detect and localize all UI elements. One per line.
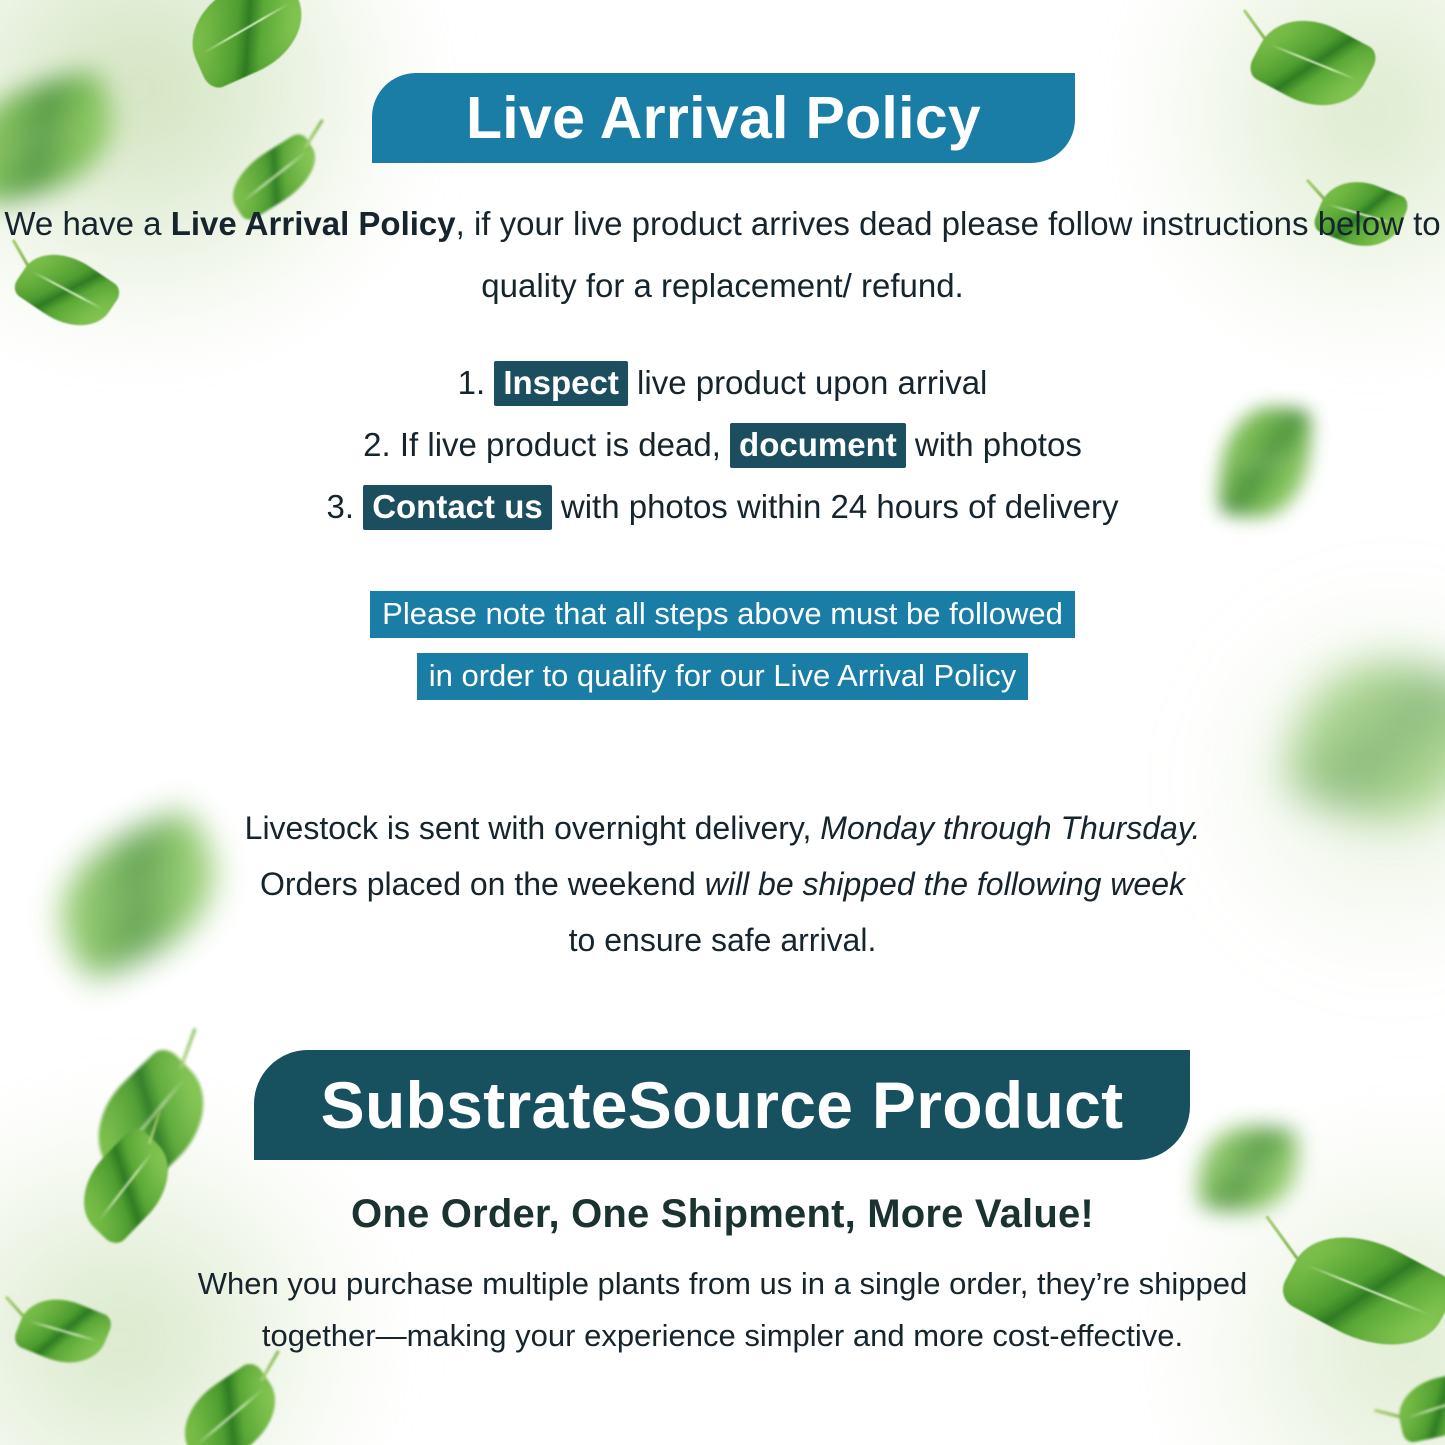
policy-step-1-number: 1. [458,364,486,401]
policy-step-1: 1. Inspect live product upon arrival [0,352,1445,414]
policy-step-1-after: live product upon arrival [628,364,988,401]
policy-step-3: 3. Contact us with photos within 24 hour… [0,476,1445,538]
policy-note-line-1: Please note that all steps above must be… [370,591,1075,638]
shipping-line-2-italic: will be shipped the following week [705,866,1185,902]
policy-step-3-highlight: Contact us [363,485,552,530]
shipping-line-3: to ensure safe arrival. [0,912,1445,968]
live-arrival-policy-banner: Live Arrival Policy [372,73,1075,163]
product-subheading: One Order, One Shipment, More Value! [0,1192,1445,1237]
policy-step-2-before: If live product is dead, [391,426,730,463]
policy-step-1-highlight: Inspect [494,361,628,406]
policy-step-2-number: 2. [363,426,391,463]
shipping-line-1: Livestock is sent with overnight deliver… [0,800,1445,856]
product-value-line-1: When you purchase multiple plants from u… [0,1258,1445,1310]
policy-step-3-before [354,488,363,525]
shipping-schedule-paragraph: Livestock is sent with overnight deliver… [0,800,1445,968]
policy-step-2-highlight: document [730,423,906,468]
policy-steps-list: 1. Inspect live product upon arrival 2. … [0,352,1445,538]
policy-step-3-number: 3. [326,488,354,525]
policy-note-block: Please note that all steps above must be… [0,583,1445,707]
policy-intro-bold-phrase: Live Arrival Policy [171,205,456,242]
substratesource-product-banner: SubstrateSource Product [254,1050,1190,1160]
shipping-line-2: Orders placed on the weekend will be shi… [0,856,1445,912]
policy-intro-lead: We have a [4,205,170,242]
policy-note-row-1: Please note that all steps above must be… [0,583,1445,645]
product-value-line-2: together—making your experience simpler … [0,1310,1445,1362]
shipping-line-1-italic: Monday through Thursday. [820,810,1200,846]
policy-note-line-2: in order to qualify for our Live Arrival… [417,653,1029,700]
shipping-line-2-plain: Orders placed on the weekend [260,866,705,902]
product-value-paragraph: When you purchase multiple plants from u… [0,1258,1445,1362]
policy-step-2-after: with photos [906,426,1082,463]
live-arrival-policy-infographic: Live Arrival Policy We have a Live Arriv… [0,0,1445,1445]
policy-note-row-2: in order to qualify for our Live Arrival… [0,645,1445,707]
policy-intro-paragraph: We have a Live Arrival Policy, if your l… [0,193,1445,317]
content-column: Live Arrival Policy We have a Live Arriv… [0,0,1445,1445]
policy-step-3-after: with photos within 24 hours of delivery [552,488,1119,525]
live-arrival-policy-banner-title: Live Arrival Policy [466,84,981,152]
policy-step-2: 2. If live product is dead, document wit… [0,414,1445,476]
shipping-line-1-plain: Livestock is sent with overnight deliver… [245,810,821,846]
substratesource-product-banner-title: SubstrateSource Product [321,1067,1124,1143]
policy-intro-rest: , if your live product arrives dead plea… [456,205,1441,304]
